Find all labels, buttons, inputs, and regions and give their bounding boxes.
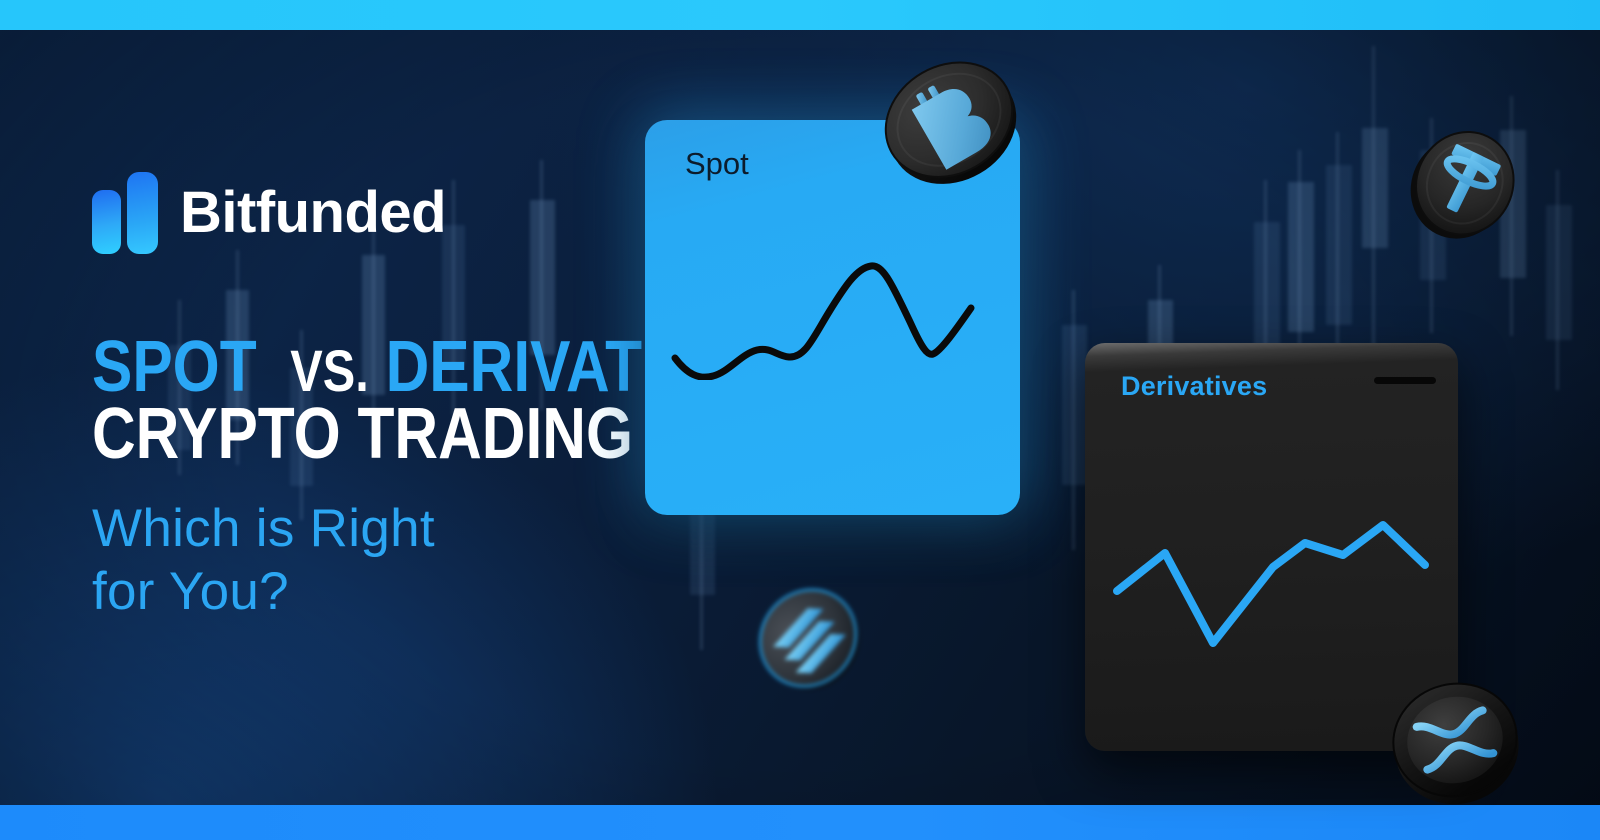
- spot-line-chart: [665, 250, 1005, 380]
- promo-banner: Bitfunded SPOT VS. DERIVATIVE CRYPTO TRA…: [0, 0, 1600, 840]
- derivatives-card-label: Derivatives: [1121, 371, 1267, 402]
- brand-logo[interactable]: Bitfunded: [92, 172, 446, 254]
- headline-line-2: CRYPTO TRADING: [92, 401, 596, 468]
- tether-coin-icon: [1396, 116, 1529, 249]
- logo-bar-left: [92, 190, 121, 254]
- spot-card-label: Spot: [685, 146, 749, 182]
- headline-line-1: SPOT VS. DERIVATIVE: [92, 334, 596, 401]
- menu-dash-icon[interactable]: [1374, 377, 1436, 384]
- derivatives-line-chart: [1105, 503, 1450, 653]
- logo-bar-right: [127, 172, 158, 254]
- subheadline-block: Which is Right for You?: [92, 498, 435, 623]
- brand-name: Bitfunded: [180, 184, 446, 242]
- bitfunded-bars-logo-icon: [92, 172, 158, 254]
- top-accent-bar: [0, 0, 1600, 30]
- subheadline-line-2: for You?: [92, 561, 435, 624]
- bitcoin-coin-icon: [867, 42, 1030, 193]
- subheadline-line-1: Which is Right: [92, 498, 435, 561]
- bottom-accent-bar: [0, 805, 1600, 840]
- xrp-coin-icon: [1380, 667, 1529, 812]
- headline-block: SPOT VS. DERIVATIVE CRYPTO TRADING: [92, 334, 692, 468]
